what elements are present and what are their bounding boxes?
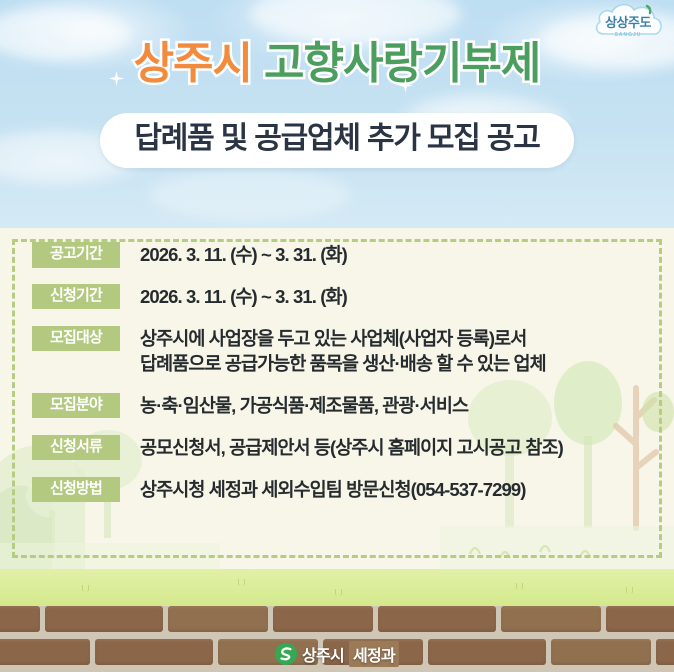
info-row-list: 공고기간2026. 3. 11. (수) ~ 3. 31. (화)신청기간202… <box>32 242 652 503</box>
info-row: 모집대상상주시에 사업장을 두고 있는 사업체(사업자 등록)로서 답례품으로 … <box>32 326 652 377</box>
title-segment-program: 고향사랑기부제 <box>264 42 540 86</box>
brick <box>606 606 674 632</box>
brick <box>168 606 268 632</box>
info-row: 신청방법상주시청 세정과 세외수입팀 방문신청(054-537-7299) <box>32 477 652 503</box>
info-row-value: 상주시청 세정과 세외수입팀 방문신청(054-537-7299) <box>140 477 526 503</box>
info-row: 공고기간2026. 3. 11. (수) ~ 3. 31. (화) <box>32 242 652 268</box>
info-row: 모집분야농·축·임산물, 가공식품·제조물품, 관광·서비스 <box>32 393 652 419</box>
sangsang-judo-logo: 상상주도 SANGJU <box>594 0 668 48</box>
info-row-label-badge: 신청방법 <box>32 477 120 503</box>
brick <box>656 639 674 665</box>
cloud-puff <box>150 170 350 220</box>
grass-blade <box>82 585 89 592</box>
main-title: 상주시고향사랑기부제 <box>0 42 674 86</box>
logo-subtext: SANGJU <box>615 32 642 38</box>
info-row: 신청기간2026. 3. 11. (수) ~ 3. 31. (화) <box>32 284 652 310</box>
brick <box>273 606 373 632</box>
footer-city-label: 상주시 <box>302 642 344 666</box>
info-row-value: 공모신청서, 공급제안서 등(상주시 홈페이지 고시공고 참조) <box>140 435 563 461</box>
info-row-value: 농·축·임산물, 가공식품·제조물품, 관광·서비스 <box>140 393 468 419</box>
brick <box>95 639 213 665</box>
info-row-label-badge: 모집대상 <box>32 326 120 352</box>
info-row-value: 2026. 3. 11. (수) ~ 3. 31. (화) <box>140 242 347 268</box>
info-row-value: 상주시에 사업장을 두고 있는 사업체(사업자 등록)로서 답례품으로 공급가능… <box>140 326 546 377</box>
brick <box>428 639 546 665</box>
brick <box>0 639 90 665</box>
logo-text: 상상주도 <box>605 15 651 30</box>
brick <box>551 639 651 665</box>
sangju-city-emblem-icon <box>275 643 297 665</box>
info-row-label-badge: 공고기간 <box>32 242 120 268</box>
subtitle-pill: 답례품 및 공급업체 추가 모집 공고 <box>100 113 573 168</box>
info-row-label-badge: 신청기간 <box>32 284 120 310</box>
info-row-label-badge: 신청서류 <box>32 435 120 461</box>
grass-blade <box>335 589 342 596</box>
info-row-label-badge: 모집분야 <box>32 393 120 419</box>
cloud-puff <box>250 0 460 44</box>
title-segment-city: 상주시 <box>134 42 252 86</box>
footer-department-label: 세정과 <box>349 641 399 667</box>
brick <box>45 606 163 632</box>
grass-blade <box>238 579 245 586</box>
info-row: 신청서류공모신청서, 공급제안서 등(상주시 홈페이지 고시공고 참조) <box>32 435 652 461</box>
brick <box>501 606 601 632</box>
info-row-value: 2026. 3. 11. (수) ~ 3. 31. (화) <box>140 284 347 310</box>
footer-brand: 상주시 세정과 <box>275 641 399 667</box>
grass-strip <box>0 569 674 609</box>
subtitle-container: 답례품 및 공급업체 추가 모집 공고 <box>0 113 674 168</box>
grass-blade <box>516 583 523 590</box>
poster-root: 상상주도 SANGJU 상주시고향사랑기부제 답례품 및 공급업체 추가 모집 … <box>0 0 674 672</box>
brick <box>0 606 40 632</box>
grass-blade <box>626 587 633 594</box>
brick <box>378 606 496 632</box>
